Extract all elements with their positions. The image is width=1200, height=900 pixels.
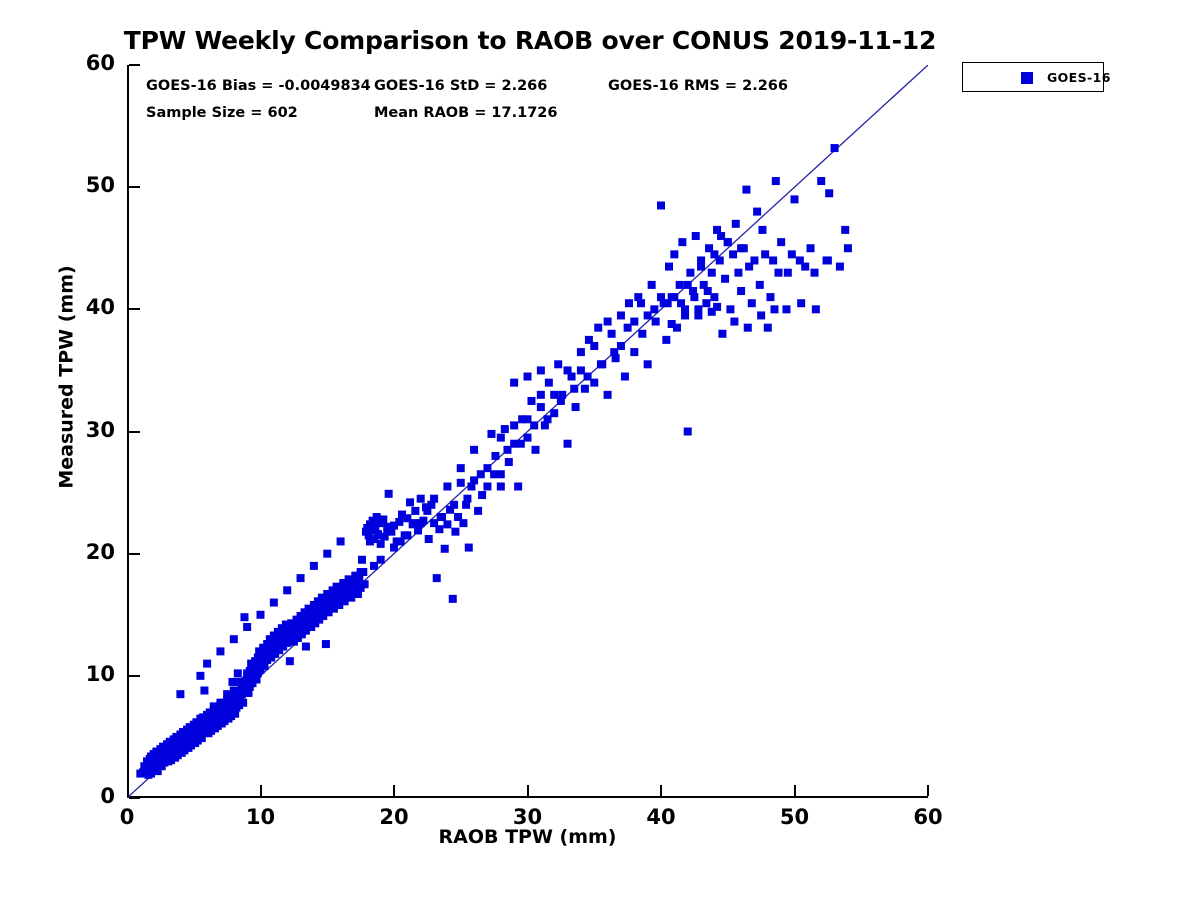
scatter-point [437, 513, 445, 521]
scatter-point [748, 299, 756, 307]
scatter-point [297, 574, 305, 582]
x-axis-tick [660, 785, 662, 796]
scatter-point [451, 528, 459, 536]
scatter-point [517, 440, 525, 448]
scatter-point [257, 662, 265, 670]
chart-figure: TPW Weekly Comparison to RAOB over CONUS… [0, 0, 1200, 900]
scatter-point [240, 613, 248, 621]
scatter-point [621, 373, 629, 381]
y-axis-tick [129, 308, 140, 310]
x-axis-tick-label: 40 [626, 805, 696, 829]
scatter-point [497, 434, 505, 442]
scatter-point [216, 699, 224, 707]
scatter-point [637, 299, 645, 307]
scatter-point [694, 305, 702, 313]
scatter-point [594, 324, 602, 332]
y-axis-label: Measured TPW (mm) [56, 11, 78, 744]
scatter-point [817, 177, 825, 185]
scatter-point [449, 595, 457, 603]
scatter-point [361, 580, 369, 588]
scatter-point [697, 263, 705, 271]
scatter-point [625, 299, 633, 307]
scatter-point [758, 226, 766, 234]
scatter-point [710, 250, 718, 258]
scatter-point [664, 299, 672, 307]
scatter-point [414, 526, 422, 534]
scatter-point [650, 305, 658, 313]
scatter-point [836, 263, 844, 271]
scatter-point [572, 403, 580, 411]
scatter-point [230, 635, 238, 643]
scatter-point [692, 232, 700, 240]
scatter-point [604, 318, 612, 326]
scatter-point [410, 519, 418, 527]
scatter-point [503, 446, 511, 454]
scatter-point [545, 379, 553, 387]
scatter-point [425, 535, 433, 543]
scatter-point [514, 482, 522, 490]
scatter-point [190, 723, 198, 731]
scatter-point [310, 613, 318, 621]
scatter-point [624, 324, 632, 332]
scatter-point [717, 232, 725, 240]
scatter-point [630, 348, 638, 356]
scatter-point [490, 470, 498, 478]
scatter-point [782, 305, 790, 313]
scatter-point [721, 275, 729, 283]
scatter-point [343, 586, 351, 594]
scatter-point [737, 244, 745, 252]
scatter-point [662, 336, 670, 344]
scatter-point [196, 672, 204, 680]
scatter-point [478, 491, 486, 499]
scatter-point [322, 640, 330, 648]
scatter-point [831, 144, 839, 152]
scatter-point [459, 519, 467, 527]
scatter-point [677, 299, 685, 307]
scatter-point [323, 550, 331, 558]
scatter-point [450, 501, 458, 509]
scatter-point [610, 348, 618, 356]
scatter-point [729, 250, 737, 258]
scatter-point [358, 556, 366, 564]
scatter-point [443, 520, 451, 528]
scatter-point [474, 507, 482, 515]
scatter-point [676, 281, 684, 289]
scatter-point [330, 592, 338, 600]
scatter-point [784, 269, 792, 277]
scatter-point [764, 324, 772, 332]
x-axis-tick [527, 785, 529, 796]
scatter-layer [127, 65, 928, 798]
scatter-point [497, 482, 505, 490]
scatter-point [200, 686, 208, 694]
scatter-point [417, 495, 425, 503]
scatter-point [825, 189, 833, 197]
scatter-point [684, 281, 692, 289]
scatter-point [323, 601, 331, 609]
x-axis-tick [393, 785, 395, 796]
scatter-point [801, 263, 809, 271]
scatter-point [537, 391, 545, 399]
scatter-point [590, 342, 598, 350]
scatter-point [163, 748, 171, 756]
scatter-point [457, 479, 465, 487]
scatter-point [430, 495, 438, 503]
scatter-point [604, 391, 612, 399]
scatter-point [357, 568, 365, 576]
x-axis-tick-label: 30 [493, 805, 563, 829]
scatter-point [770, 305, 778, 313]
scatter-point [243, 674, 251, 682]
scatter-point [807, 244, 815, 252]
scatter-point [708, 269, 716, 277]
scatter-point [544, 415, 552, 423]
scatter-point [283, 638, 291, 646]
scatter-point [648, 281, 656, 289]
scatter-point [744, 324, 752, 332]
scatter-point [477, 470, 485, 478]
scatter-point [532, 446, 540, 454]
scatter-point [644, 360, 652, 368]
scatter-point [203, 660, 211, 668]
scatter-point [383, 523, 391, 531]
scatter-point [577, 348, 585, 356]
scatter-point [528, 397, 536, 405]
y-axis-tick-label: 10 [55, 662, 115, 686]
scatter-point [844, 244, 852, 252]
scatter-point [423, 507, 431, 515]
scatter-point [443, 482, 451, 490]
legend-item-label: GOES-16 [1047, 70, 1111, 85]
scatter-point [797, 299, 805, 307]
scatter-point [753, 208, 761, 216]
scatter-point [234, 669, 242, 677]
scatter-point [742, 186, 750, 194]
scatter-point [483, 482, 491, 490]
scatter-point [463, 495, 471, 503]
x-axis-tick-label: 20 [359, 805, 429, 829]
scatter-point [704, 287, 712, 295]
scatter-point [608, 330, 616, 338]
scatter-point [239, 699, 247, 707]
y-axis-tick-label: 60 [55, 51, 115, 75]
scatter-point [457, 464, 465, 472]
scatter-point [708, 308, 716, 316]
scatter-point [652, 318, 660, 326]
scatter-point [554, 360, 562, 368]
scatter-point [310, 562, 318, 570]
scatter-point [584, 373, 592, 381]
scatter-point [379, 515, 387, 523]
scatter-point [230, 686, 238, 694]
scatter-point [668, 320, 676, 328]
scatter-point [772, 177, 780, 185]
scatter-point [737, 287, 745, 295]
scatter-point [734, 269, 742, 277]
scatter-point [524, 373, 532, 381]
scatter-point [176, 735, 184, 743]
scatter-point [216, 647, 224, 655]
scatter-point [270, 599, 278, 607]
y-axis-tick [129, 64, 140, 66]
scatter-point [176, 690, 184, 698]
scatter-point [690, 293, 698, 301]
scatter-point [761, 250, 769, 258]
scatter-point [510, 379, 518, 387]
scatter-point [385, 490, 393, 498]
scatter-point [370, 562, 378, 570]
x-axis-tick-label: 60 [893, 805, 963, 829]
y-axis-tick [129, 431, 140, 433]
y-axis-tick-label: 40 [55, 295, 115, 319]
square-marker-icon [1021, 72, 1033, 84]
scatter-point [150, 760, 158, 768]
scatter-point [702, 299, 710, 307]
scatter-point [537, 366, 545, 374]
scatter-point [228, 678, 236, 686]
scatter-point [756, 281, 764, 289]
scatter-point [257, 611, 265, 619]
scatter-point [681, 311, 689, 319]
scatter-point [597, 360, 605, 368]
scatter-point [411, 507, 419, 515]
scatter-point [441, 545, 449, 553]
scatter-point [665, 263, 673, 271]
scatter-point [505, 458, 513, 466]
scatter-point [686, 269, 694, 277]
scatter-point [841, 226, 849, 234]
scatter-point [684, 428, 692, 436]
scatter-point [769, 256, 777, 264]
scatter-point [337, 537, 345, 545]
scatter-point [750, 256, 758, 264]
chart-title: TPW Weekly Comparison to RAOB over CONUS… [0, 26, 1060, 55]
scatter-point [435, 525, 443, 533]
scatter-point [617, 311, 625, 319]
scatter-point [433, 574, 441, 582]
scatter-point [374, 531, 382, 539]
scatter-point [564, 440, 572, 448]
scatter-point [501, 425, 509, 433]
y-axis-tick [129, 675, 140, 677]
scatter-point [286, 657, 294, 665]
y-axis-tick-label: 30 [55, 418, 115, 442]
scatter-point [718, 330, 726, 338]
chart-legend[interactable]: GOES-16 [962, 62, 1104, 92]
scatter-point [570, 385, 578, 393]
scatter-point [487, 430, 495, 438]
scatter-point [564, 366, 572, 374]
y-axis-tick-label: 50 [55, 173, 115, 197]
scatter-point [297, 625, 305, 633]
scatter-point [397, 537, 405, 545]
scatter-point [730, 318, 738, 326]
scatter-point [726, 305, 734, 313]
scatter-point [791, 195, 799, 203]
scatter-point [302, 643, 310, 651]
scatter-point [657, 201, 665, 209]
y-axis-tick [129, 186, 140, 188]
scatter-point [537, 403, 545, 411]
scatter-point [243, 623, 251, 631]
scatter-point [203, 711, 211, 719]
scatter-point [136, 770, 144, 778]
x-axis-label: RAOB TPW (mm) [127, 826, 928, 848]
scatter-point [766, 293, 774, 301]
scatter-point [811, 269, 819, 277]
scatter-point [510, 421, 518, 429]
scatter-point [812, 305, 820, 313]
scatter-point [270, 650, 278, 658]
x-axis-tick [260, 785, 262, 796]
scatter-point [757, 311, 765, 319]
scatter-point [470, 446, 478, 454]
scatter-point [465, 544, 473, 552]
x-axis-tick [927, 785, 929, 796]
scatter-point [581, 385, 589, 393]
scatter-point [395, 518, 403, 526]
x-axis-tick-label: 50 [760, 805, 830, 829]
y-axis-tick [129, 797, 140, 799]
scatter-point [377, 540, 385, 548]
scatter-point [824, 256, 832, 264]
y-axis-tick-label: 20 [55, 540, 115, 564]
scatter-point [557, 397, 565, 405]
scatter-point [406, 498, 414, 506]
x-axis-tick-label: 10 [226, 805, 296, 829]
scatter-point [530, 421, 538, 429]
scatter-point [638, 330, 646, 338]
scatter-point [366, 537, 374, 545]
scatter-point [670, 250, 678, 258]
x-axis-tick [794, 785, 796, 796]
scatter-point [777, 238, 785, 246]
y-axis-tick [129, 553, 140, 555]
scatter-point [491, 452, 499, 460]
scatter-point [788, 250, 796, 258]
scatter-point [283, 586, 291, 594]
scatter-point [774, 269, 782, 277]
scatter-point [678, 238, 686, 246]
plot-area [127, 65, 928, 798]
scatter-point [732, 220, 740, 228]
x-axis-tick-label: 0 [92, 805, 162, 829]
